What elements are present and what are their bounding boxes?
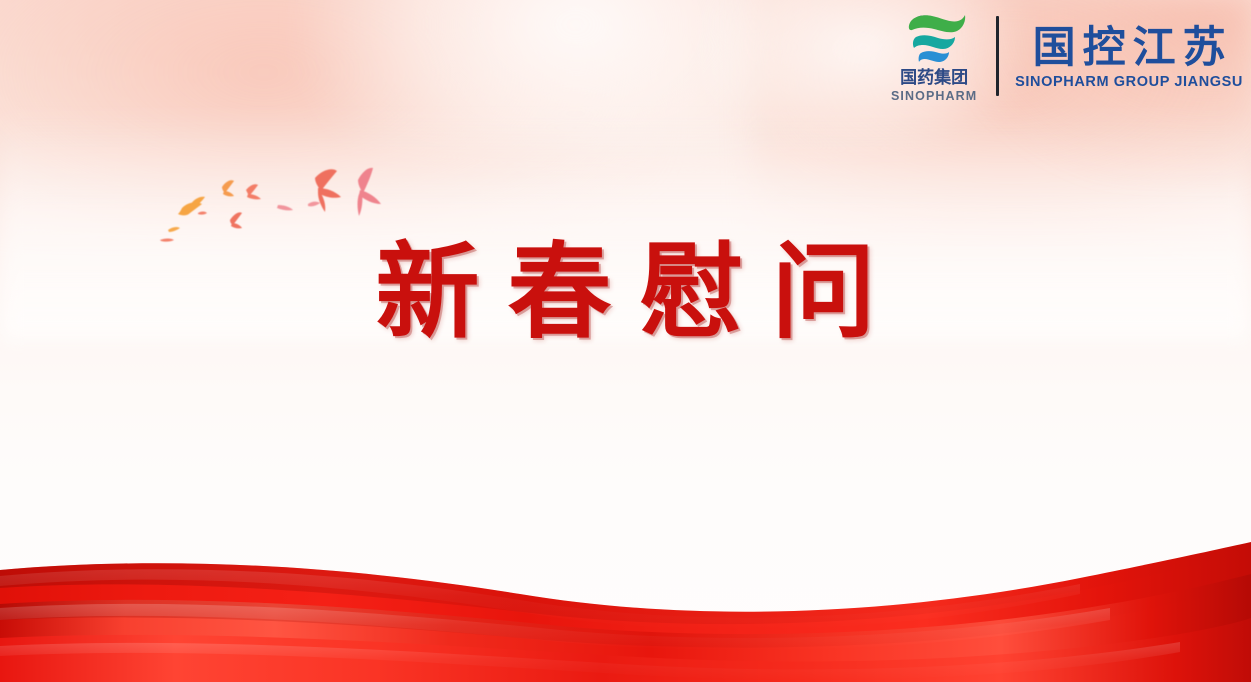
sinopharm-logo-cn: 国药集团: [900, 69, 968, 88]
jiangsu-logo-cn: 国控江苏: [1026, 24, 1233, 72]
flying-birds-flock-icon: [160, 160, 390, 250]
logo-divider: [996, 16, 999, 96]
new-year-greeting-banner: 新春慰问 国药集团 SINOPHARM 国控江苏 SINOPHARM GROUP…: [0, 0, 1251, 682]
red-silk-ribbon: [0, 542, 1251, 682]
sinopharm-logo-en: SINOPHARM: [891, 89, 977, 103]
logo-lockup: 国药集团 SINOPHARM 国控江苏 SINOPHARM GROUP JIAN…: [884, 8, 1243, 104]
sinopharm-logo: 国药集团 SINOPHARM: [884, 10, 984, 103]
jiangsu-logo-en: SINOPHARM GROUP JIANGSU: [1015, 74, 1243, 91]
sinopharm-swirl-mark-icon: [898, 12, 970, 66]
jiangsu-logo: 国控江苏 SINOPHARM GROUP JIANGSU: [1015, 22, 1243, 91]
